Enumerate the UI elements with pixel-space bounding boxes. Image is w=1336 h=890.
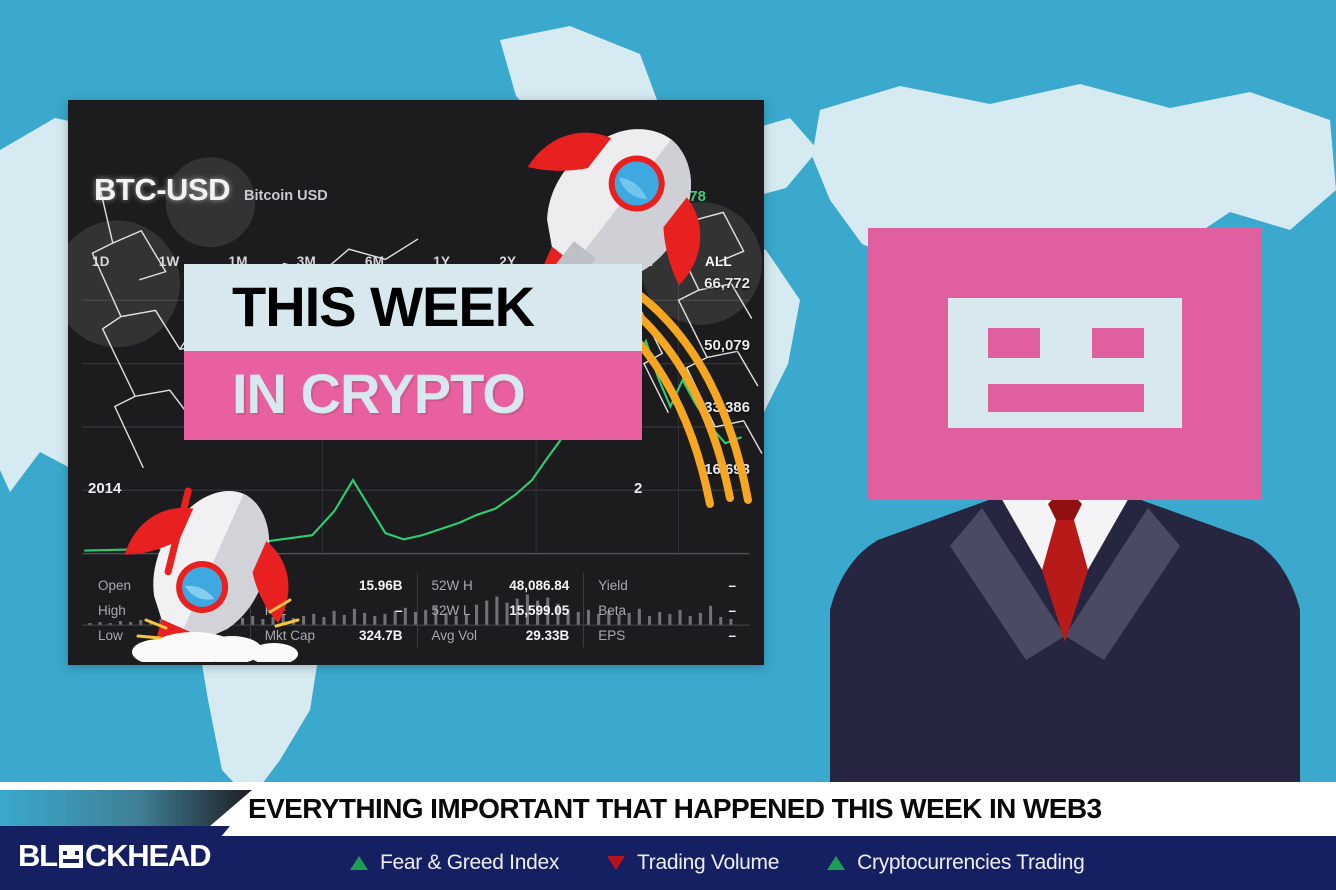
stat-value: – <box>728 578 736 593</box>
ticker-symbol: BTC-USD <box>94 172 230 208</box>
mascot-mouth <box>988 384 1144 412</box>
poster-stage: BTC-USD Bitcoin USD 32,478 1D 1W 1M 3M 6… <box>0 0 1336 890</box>
stat-key: Beta <box>598 603 626 618</box>
stat-value: 29.33B <box>526 628 570 643</box>
stat-value: 324.7B <box>359 628 403 643</box>
stats-column-4: Yield – Beta – EPS – <box>583 573 750 647</box>
stat-key: Yield <box>598 578 628 593</box>
triangle-up-icon <box>827 856 845 870</box>
stat-value: – <box>728 628 736 643</box>
logo-face-icon <box>59 845 83 868</box>
mascot-eye-right <box>1092 328 1144 358</box>
stat-value: 48,086.84 <box>509 578 569 593</box>
ticker-items: Fear & Greed Index Trading Volume Crypto… <box>350 836 1085 890</box>
rocket-icon-bottom <box>74 472 324 662</box>
stat-value: – <box>395 603 403 618</box>
logo-text-part2: CKHEAD <box>85 838 210 874</box>
ticker-label: Fear & Greed Index <box>380 851 559 875</box>
ticker-item-fear-greed[interactable]: Fear & Greed Index <box>350 851 559 875</box>
stat-row: EPS – <box>598 623 736 647</box>
ticker-header: BTC-USD Bitcoin USD <box>94 172 328 208</box>
stat-row: 52W L 15,599.05 <box>432 598 570 622</box>
stat-row: Avg Vol 29.33B <box>432 623 570 647</box>
stat-value: 15,599.05 <box>509 603 569 618</box>
triangle-up-icon <box>350 856 368 870</box>
mascot-eye-left <box>988 328 1040 358</box>
stats-column-3: 52W H 48,086.84 52W L 15,599.05 Avg Vol … <box>417 573 584 647</box>
stat-value: 15.96B <box>359 578 403 593</box>
blockhead-mascot <box>830 190 1300 830</box>
stat-row: 52W H 48,086.84 <box>432 573 570 597</box>
stat-row: Beta – <box>598 598 736 622</box>
ticker-item-trading-volume[interactable]: Trading Volume <box>607 851 779 875</box>
ticker-name: Bitcoin USD <box>244 188 328 204</box>
title-overlay: THIS WEEK IN CRYPTO <box>184 264 642 440</box>
ticker-item-cryptocurrencies-trading[interactable]: Cryptocurrencies Trading <box>827 851 1084 875</box>
title-line2-band: IN CRYPTO <box>184 351 642 440</box>
title-line1-band: THIS WEEK <box>184 264 642 351</box>
stat-key: 52W L <box>432 603 471 618</box>
triangle-down-icon <box>607 856 625 870</box>
stat-key: EPS <box>598 628 625 643</box>
ticker-label: Cryptocurrencies Trading <box>857 851 1084 875</box>
range-button-1w[interactable]: 1W <box>159 254 180 269</box>
title-line1: THIS WEEK <box>184 278 642 335</box>
range-button-1d[interactable]: 1D <box>92 254 110 269</box>
ticker-label: Trading Volume <box>637 851 779 875</box>
logo-text-part1: BL <box>18 838 57 874</box>
stat-value: – <box>728 603 736 618</box>
stat-key: Avg Vol <box>432 628 478 643</box>
stat-key: 52W H <box>432 578 473 593</box>
headline-text: EVERYTHING IMPORTANT THAT HAPPENED THIS … <box>248 793 1101 825</box>
title-line2: IN CRYPTO <box>184 365 642 422</box>
blockhead-logo[interactable]: BL CKHEAD <box>18 838 210 874</box>
stat-row: Yield – <box>598 573 736 597</box>
